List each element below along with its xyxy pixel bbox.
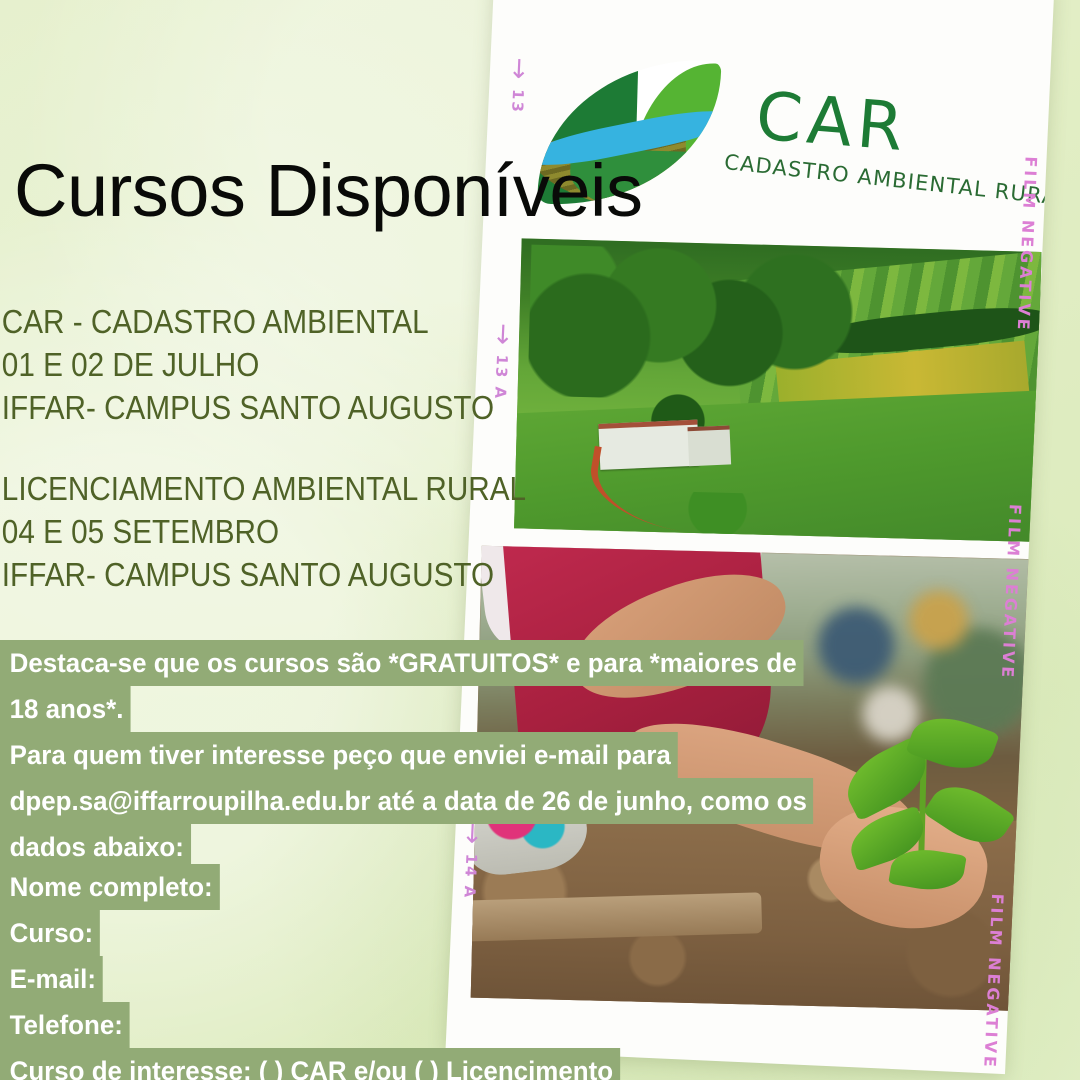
page-title: Cursos Disponíveis <box>14 148 642 233</box>
course-1-name: LICENCIAMENTO AMBIENTAL RURAL <box>0 467 468 510</box>
course-0-location: IFFAR- CAMPUS SANTO AUGUSTO <box>0 386 468 429</box>
course-0-name: CAR - CADASTRO AMBIENTAL <box>0 300 468 343</box>
course-1-dates: 04 E 05 SETEMBRO <box>0 510 468 553</box>
course-0-dates: 01 E 02 DE JULHO <box>0 343 468 386</box>
info-line-2: Para quem tiver interesse peço que envie… <box>0 732 678 778</box>
field-email: E-mail: <box>0 956 103 1002</box>
field-curso: Curso: <box>0 910 100 956</box>
registration-fields: Nome completo: Curso: E-mail: Telefone: … <box>0 864 640 1080</box>
info-line-1: 18 anos*. <box>0 686 130 732</box>
info-line-0: Destaca-se que os cursos são *GRATUITOS*… <box>0 640 803 686</box>
course-list: CAR - CADASTRO AMBIENTAL 01 E 02 DE JULH… <box>0 300 520 596</box>
field-curso-de-interesse: Curso de interesse: ( ) CAR e/ou ( ) Lic… <box>0 1048 620 1080</box>
info-paragraph: Destaca-se que os cursos são *GRATUITOS*… <box>0 640 800 870</box>
poster-canvas: CAR CADASTRO AMBIENTAL RURAL <box>0 0 1080 1080</box>
field-telefone: Telefone: <box>0 1002 130 1048</box>
info-line-3: dpep.sa@iffarroupilha.edu.br até a data … <box>0 778 814 824</box>
field-nome-completo: Nome completo: <box>0 864 219 910</box>
course-1-location: IFFAR- CAMPUS SANTO AUGUSTO <box>0 553 468 596</box>
